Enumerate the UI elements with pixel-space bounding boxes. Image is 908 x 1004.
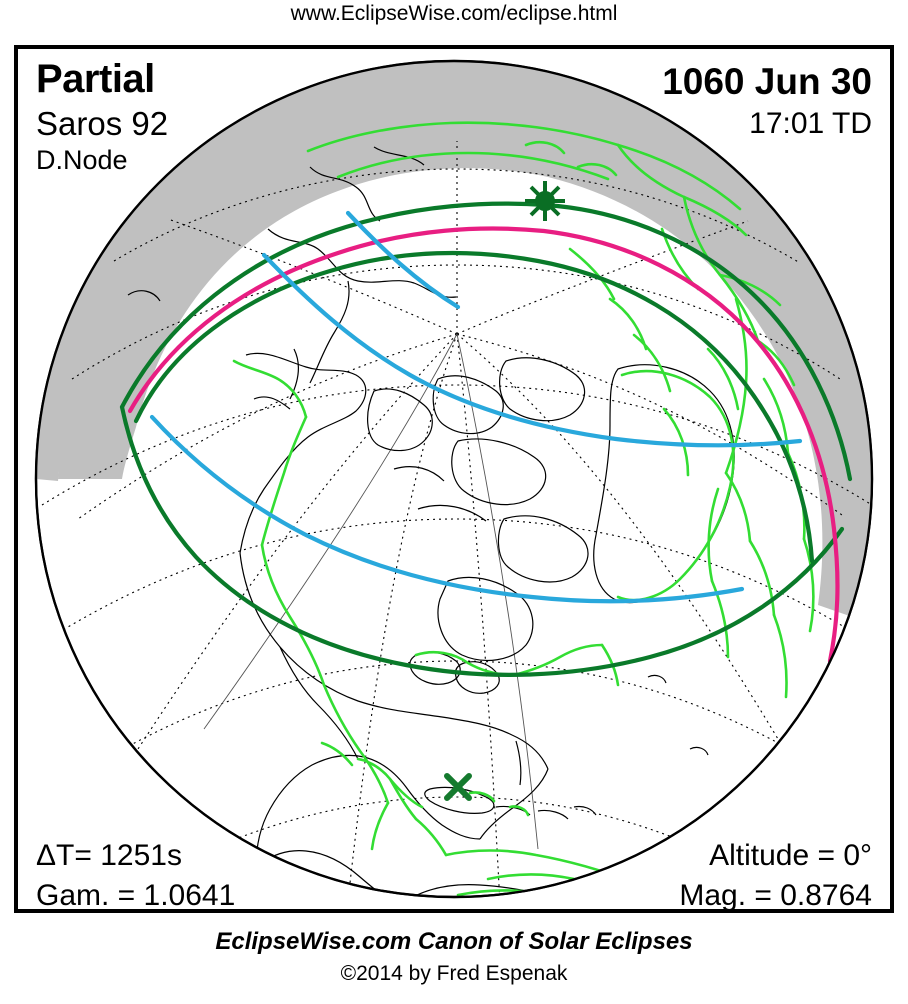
node-label: D.Node — [36, 145, 128, 176]
canon-title: EclipseWise.com Canon of Solar Eclipses — [0, 928, 908, 956]
eclipse-type-label: Partial — [36, 57, 155, 102]
eclipse-map-page: www.EclipseWise.com/eclipse.html — [0, 0, 908, 1004]
copyright-credit: ©2014 by Fred Espenak — [0, 962, 908, 986]
magnitude-label: Mag. = 0.8764 — [679, 879, 872, 913]
eclipse-date-label: 1060 Jun 30 — [662, 61, 872, 103]
delta-t-label: ΔT= 1251s — [36, 839, 182, 873]
globe-map — [18, 49, 890, 909]
gamma-label: Gam. = 1.0641 — [36, 879, 235, 913]
greatest-eclipse-star-icon — [525, 181, 565, 221]
altitude-label: Altitude = 0° — [709, 839, 872, 873]
eclipse-time-label: 17:01 TD — [749, 107, 872, 141]
source-url: www.EclipseWise.com/eclipse.html — [0, 2, 908, 26]
eclipse-map-frame: Partial Saros 92 D.Node 1060 Jun 30 17:0… — [14, 45, 894, 913]
saros-label: Saros 92 — [36, 105, 168, 143]
